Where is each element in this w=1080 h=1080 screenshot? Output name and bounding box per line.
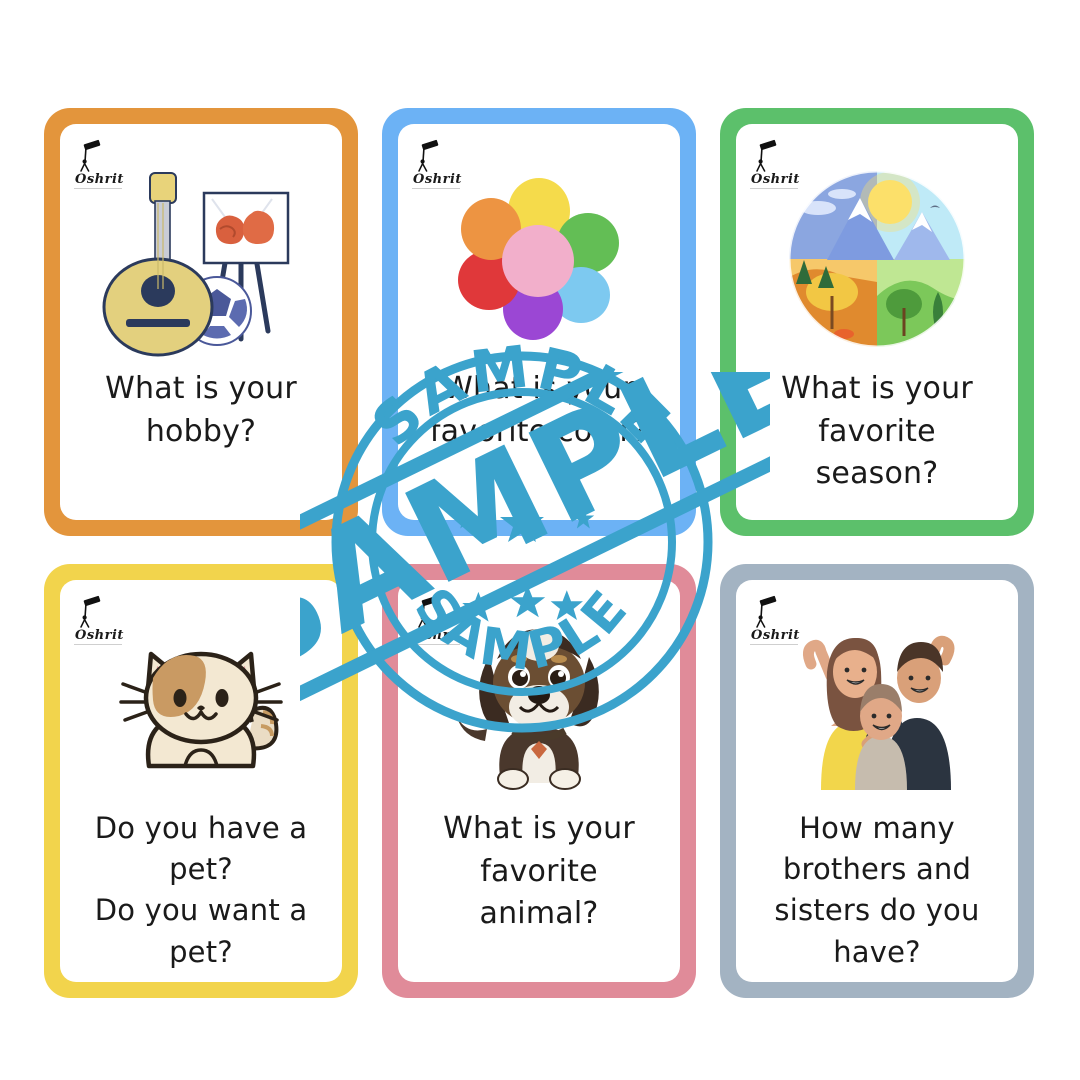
hobby-artwork: [60, 150, 342, 368]
card-inner: Oshrit: [60, 124, 342, 520]
question-line: How many: [774, 808, 979, 849]
question-line: animal?: [443, 893, 635, 936]
guitar-easel-boxing-gloves-soccer-ball-icon: [86, 159, 316, 359]
rainbow-flower-icon: [453, 175, 625, 343]
question-line: pet?: [95, 849, 308, 890]
card-question: What is your favorite color?: [414, 368, 664, 453]
question-line: have?: [774, 932, 979, 973]
card-inner: Oshrit: [736, 124, 1018, 520]
card-question: What is your hobby?: [89, 368, 313, 453]
card-inner: Oshrit What is your: [398, 124, 680, 520]
card-inner: Oshrit: [398, 580, 680, 982]
question-line: sisters do you: [774, 890, 979, 931]
four-seasons-circle-icon: [782, 164, 972, 354]
question-line: favorite color?: [430, 411, 648, 454]
animal-artwork: [398, 602, 680, 808]
question-line: What is your: [781, 368, 973, 411]
happy-family-icon: [777, 620, 977, 790]
question-line: season?: [781, 453, 973, 496]
question-line: pet?: [95, 932, 308, 973]
pet-artwork: [60, 602, 342, 808]
question-line: Do you want a: [95, 890, 308, 931]
puppy-dog-icon: [439, 615, 639, 795]
card-question: How many brothers and sisters do you hav…: [758, 808, 995, 973]
question-line: favorite: [781, 411, 973, 454]
question-line: hobby?: [105, 411, 297, 454]
question-line: What is your: [430, 368, 648, 411]
card-hobby[interactable]: Oshrit: [44, 108, 358, 536]
question-line: What is your: [443, 808, 635, 851]
question-line: Do you have a: [95, 808, 308, 849]
card-inner: Oshrit: [736, 580, 1018, 982]
color-artwork: [398, 150, 680, 368]
season-artwork: [736, 150, 1018, 368]
card-season[interactable]: Oshrit: [720, 108, 1034, 536]
cute-cat-icon: [101, 620, 301, 790]
siblings-artwork: [736, 602, 1018, 808]
card-question: Do you have a pet? Do you want a pet?: [79, 808, 324, 973]
question-line: What is your: [105, 368, 297, 411]
card-grid: Oshrit: [44, 108, 1036, 998]
card-pet[interactable]: Oshrit: [44, 564, 358, 998]
card-question: What is your favorite animal?: [427, 808, 651, 936]
card-inner: Oshrit: [60, 580, 342, 982]
card-siblings[interactable]: Oshrit: [720, 564, 1034, 998]
card-question: What is your favorite season?: [765, 368, 989, 496]
card-animal[interactable]: Oshrit: [382, 564, 696, 998]
question-line: brothers and: [774, 849, 979, 890]
card-color[interactable]: Oshrit What is your: [382, 108, 696, 536]
flashcard-sheet: Oshrit: [0, 0, 1080, 1080]
question-line: favorite: [443, 851, 635, 894]
